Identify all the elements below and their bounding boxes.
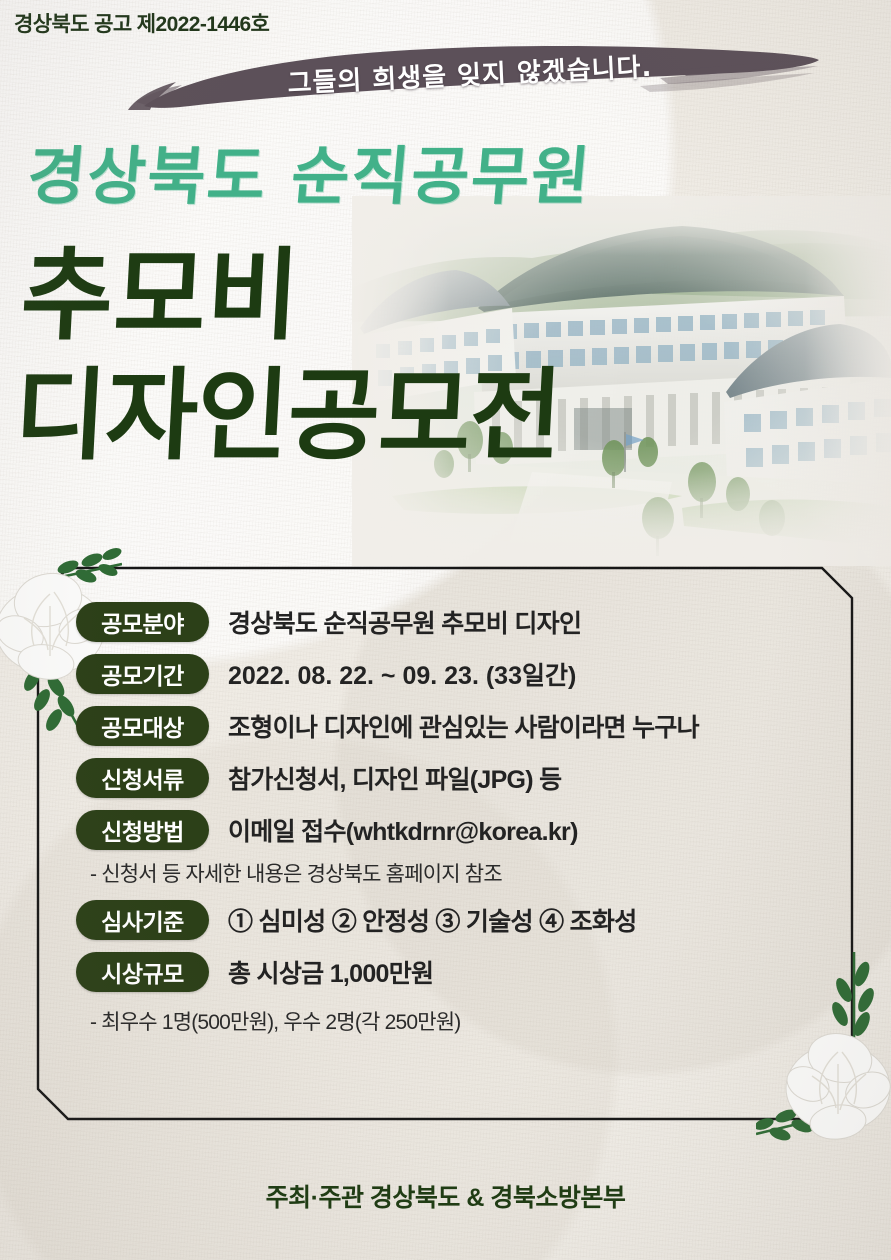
- note-apply: - 신청서 등 자세한 내용은 경상북도 홈페이지 참조: [90, 858, 816, 888]
- badge-documents: 신청서류: [76, 758, 209, 798]
- subtitle-green: 경상북도 순직공무원: [24, 126, 596, 217]
- page-title: 추모비 디자인공모전: [12, 236, 571, 476]
- value-criteria: ① 심미성 ② 안정성 ③ 기술성 ④ 조화성: [228, 902, 637, 938]
- badge-field: 공모분야: [76, 602, 209, 642]
- title-line-1: 추모비: [18, 237, 303, 354]
- note-prize: - 최우수 1명(500만원), 우수 2명(각 250만원): [90, 1006, 816, 1036]
- info-row-period: 공모기간 2022. 08. 22. ~ 09. 23. (33일간): [76, 652, 816, 695]
- poster-canvas: 경상북도 공고 제2022-1446호 그들의 희생을 잊지 않겠습니다.: [0, 0, 891, 1260]
- badge-criteria: 심사기준: [76, 900, 209, 940]
- value-period: 2022. 08. 22. ~ 09. 23. (33일간): [228, 656, 576, 692]
- value-field: 경상북도 순직공무원 추모비 디자인: [228, 604, 581, 640]
- badge-eligibility: 공모대상: [76, 706, 209, 746]
- info-row-eligibility: 공모대상 조형이나 디자인에 관심있는 사람이라면 누구나: [76, 704, 816, 747]
- brush-banner: 그들의 희생을 잊지 않겠습니다.: [120, 40, 820, 112]
- info-list: 공모분야 경상북도 순직공무원 추모비 디자인 공모기간 2022. 08. 2…: [76, 600, 816, 1046]
- info-row-criteria: 심사기준 ① 심미성 ② 안정성 ③ 기술성 ④ 조화성: [76, 898, 816, 941]
- notice-number: 경상북도 공고 제2022-1446호: [14, 8, 269, 38]
- footer-organizers: 주최·주관 경상북도 & 경북소방본부: [0, 1178, 891, 1214]
- value-prize: 총 시상금 1,000만원: [228, 954, 433, 990]
- info-row-documents: 신청서류 참가신청서, 디자인 파일(JPG) 등: [76, 756, 816, 799]
- value-eligibility: 조형이나 디자인에 관심있는 사람이라면 누구나: [228, 708, 699, 744]
- badge-prize: 시상규모: [76, 952, 209, 992]
- value-method: 이메일 접수(whtkdrnr@korea.kr): [228, 812, 578, 848]
- title-line-2: 디자인공모전: [12, 356, 564, 476]
- info-row-prize: 시상규모 총 시상금 1,000만원: [76, 950, 816, 993]
- info-row-method: 신청방법 이메일 접수(whtkdrnr@korea.kr): [76, 808, 816, 851]
- badge-method: 신청방법: [76, 810, 209, 850]
- badge-period: 공모기간: [76, 654, 209, 694]
- value-documents: 참가신청서, 디자인 파일(JPG) 등: [228, 760, 561, 796]
- info-row-field: 공모분야 경상북도 순직공무원 추모비 디자인: [76, 600, 816, 643]
